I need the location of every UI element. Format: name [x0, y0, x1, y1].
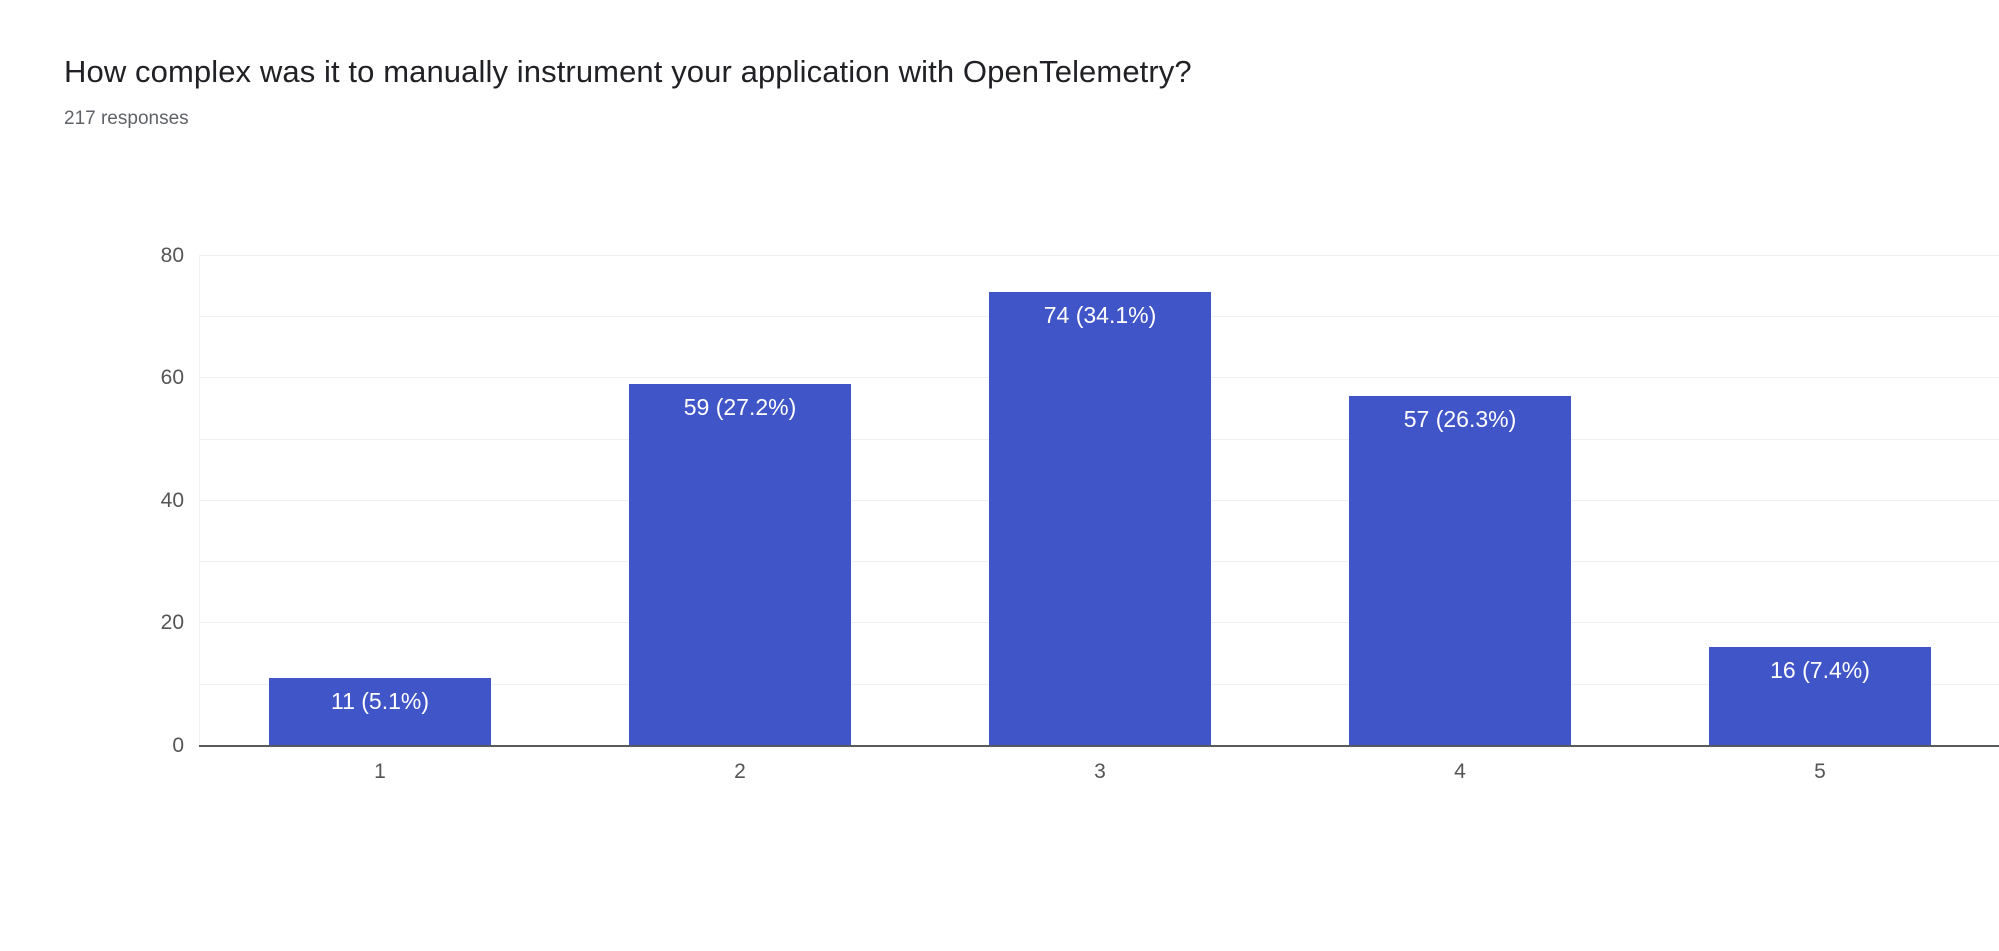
- gridline-80: [199, 255, 1999, 256]
- y-axis-tick-40: 40: [64, 490, 184, 511]
- x-axis-tick-3: 3: [980, 760, 1220, 784]
- bar-chart[interactable]: 80 60 40 20 0 11 (5.1%) 59 (27.2%) 74 (3…: [0, 160, 1999, 860]
- y-axis-tick-80: 80: [64, 245, 184, 266]
- bar-category-4[interactable]: 57 (26.3%): [1349, 396, 1571, 745]
- bar-category-5[interactable]: 16 (7.4%): [1709, 647, 1931, 745]
- x-axis-baseline: [199, 745, 1999, 747]
- bar-category-2[interactable]: 59 (27.2%): [629, 384, 851, 745]
- y-axis-tick-20: 20: [64, 612, 184, 633]
- bar-value-label-1: 11 (5.1%): [269, 684, 491, 718]
- bar-value-label-2: 59 (27.2%): [629, 390, 851, 424]
- x-axis-tick-2: 2: [620, 760, 860, 784]
- forms-response-chart-page: How complex was it to manually instrumen…: [0, 0, 1999, 951]
- page-title: How complex was it to manually instrumen…: [64, 52, 1192, 92]
- response-count-label: 217 responses: [64, 106, 189, 132]
- y-axis-tick-0: 0: [64, 735, 184, 756]
- bar-value-label-5: 16 (7.4%): [1709, 653, 1931, 687]
- bar-category-3[interactable]: 74 (34.1%): [989, 292, 1211, 745]
- x-axis-tick-1: 1: [260, 760, 500, 784]
- bar-value-label-4: 57 (26.3%): [1349, 402, 1571, 436]
- bar-value-label-3: 74 (34.1%): [989, 298, 1211, 332]
- x-axis-tick-4: 4: [1340, 760, 1580, 784]
- y-axis-tick-60: 60: [64, 367, 184, 388]
- x-axis-tick-5: 5: [1700, 760, 1940, 784]
- bar-category-1[interactable]: 11 (5.1%): [269, 678, 491, 745]
- plot-left-edge: [199, 255, 200, 745]
